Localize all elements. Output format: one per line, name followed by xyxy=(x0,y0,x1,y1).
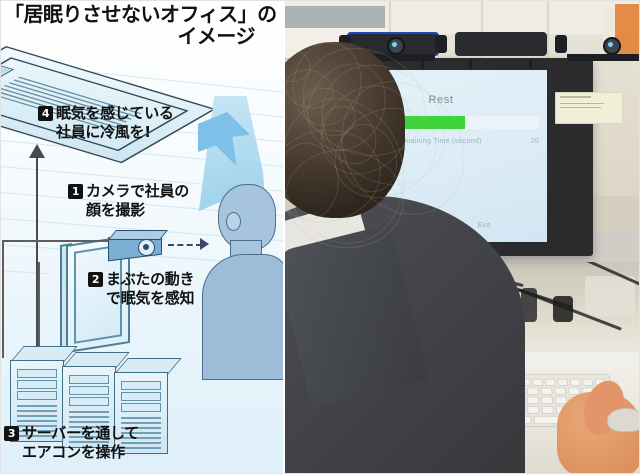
step-3-line1: サーバーを通して xyxy=(22,424,139,442)
bezel-label xyxy=(555,92,623,124)
title-line-2: イメージ xyxy=(4,25,277,47)
step-4-line1: 眠気を感じている xyxy=(56,104,174,122)
signal-wire-branch xyxy=(38,262,40,354)
infographic-panel: 「居眠りさせないオフィス」の イメージ 4眠気を感じている 社員に冷風を! 1カ… xyxy=(0,0,283,474)
photo-panel: Rest Remaining Time (second) 20 Restart … xyxy=(285,0,640,474)
usb-camera-icon xyxy=(108,230,170,260)
cable-bundle xyxy=(585,276,635,316)
webcam-black-icon xyxy=(455,32,547,56)
step-badge-1: 1 xyxy=(68,184,83,199)
signal-wire-down xyxy=(2,240,4,358)
callout-step-3: 3サーバーを通して エアコンを操作 xyxy=(4,424,139,462)
office-worker-silhouette xyxy=(196,178,283,378)
step-3-line2: エアコンを操作 xyxy=(4,443,139,462)
step-badge-2: 2 xyxy=(88,272,103,287)
step-1-line2: 顔を撮影 xyxy=(68,201,189,220)
computer-mouse[interactable] xyxy=(607,408,640,432)
remaining-time-value: 20 xyxy=(531,138,539,145)
callout-step-2: 2まぶたの動き で眠気を感知 xyxy=(88,270,194,308)
airflow-control-arrowhead xyxy=(29,144,45,158)
callout-step-1: 1カメラで社員の 顔を撮影 xyxy=(68,182,189,220)
step-2-line2: で眠気を感知 xyxy=(88,289,194,308)
step-badge-3: 3 xyxy=(4,426,19,441)
step-4-line2: 社員に冷風を! xyxy=(38,123,174,142)
page-title: 「居眠りさせないオフィス」の イメージ xyxy=(0,0,283,49)
signal-wire-top xyxy=(2,240,114,242)
worker-head-back-view xyxy=(285,42,405,218)
callout-step-4: 4眠気を感じている 社員に冷風を! xyxy=(38,104,174,142)
step-1-line1: カメラで社員の xyxy=(86,182,189,200)
step-2-line1: まぶたの動き xyxy=(106,270,194,288)
figure-root: 「居眠りさせないオフィス」の イメージ 4眠気を感じている 社員に冷風を! 1カ… xyxy=(0,0,640,474)
step-badge-4: 4 xyxy=(38,106,53,121)
title-line-1: 「居眠りさせないオフィス」の xyxy=(4,3,277,25)
panel-divider xyxy=(283,0,285,474)
